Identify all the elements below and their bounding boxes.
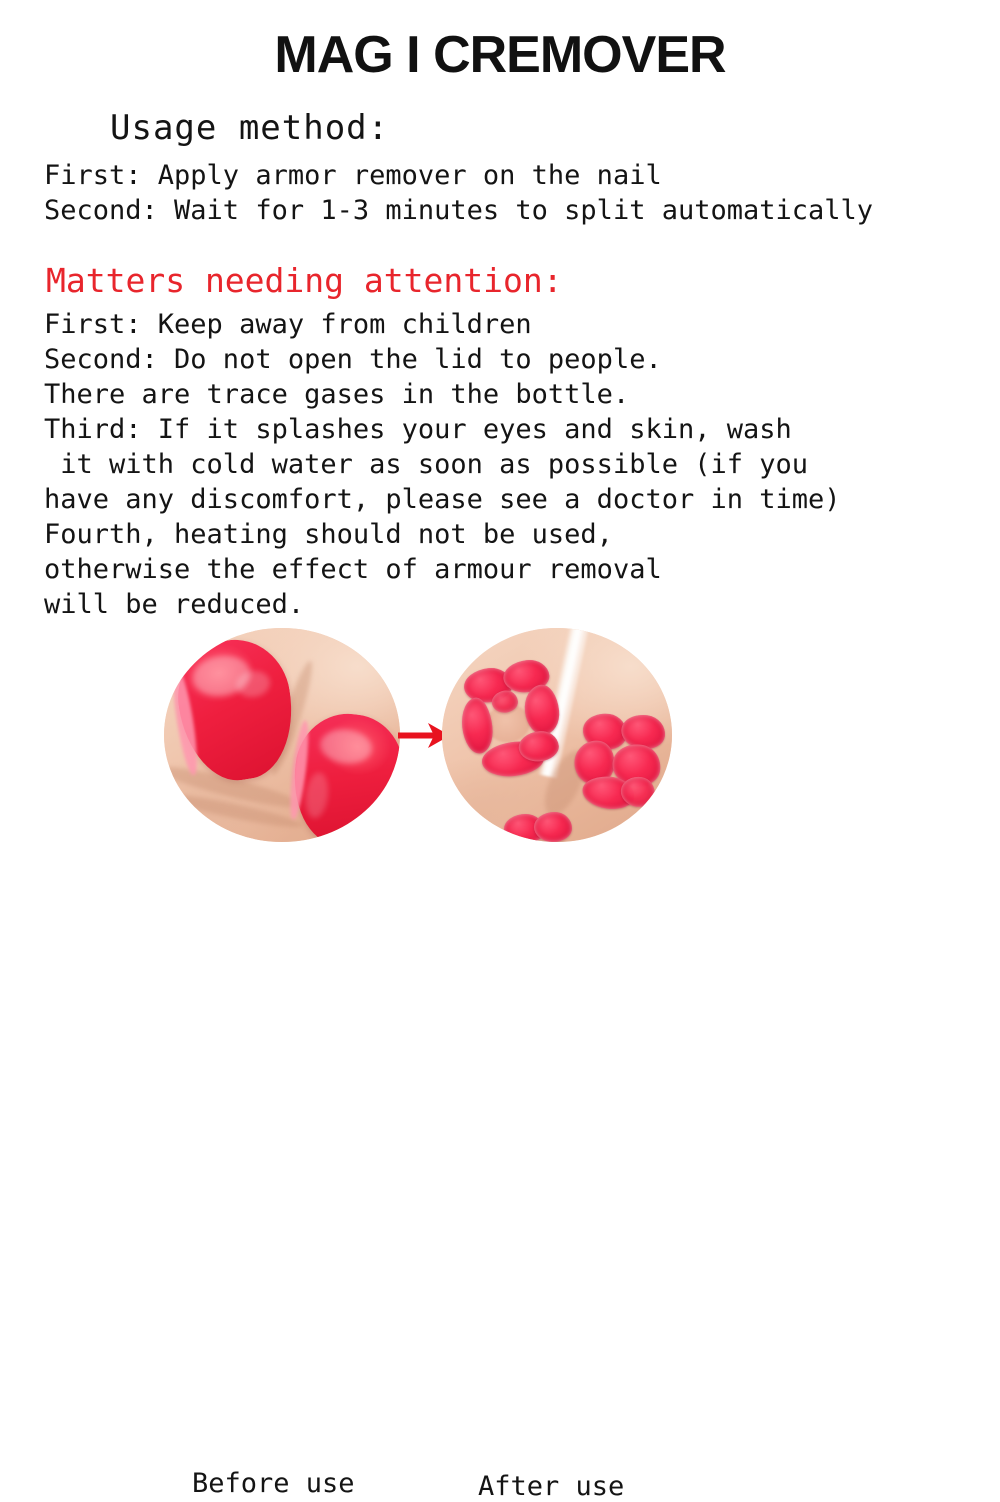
usage-method-body: First: Apply armor remover on the nail S… <box>44 158 974 228</box>
attention-line: it with cold water as soon as possible (… <box>44 447 974 482</box>
usage-line: Second: Wait for 1-3 minutes to split au… <box>44 193 974 228</box>
detached-polish-piece <box>504 812 574 842</box>
after-use-caption: After use <box>478 1471 624 1502</box>
attention-heading: Matters needing attention: <box>46 261 563 300</box>
attention-line: will be reduced. <box>44 587 974 622</box>
attention-line: have any discomfort, please see a doctor… <box>44 482 974 517</box>
usage-line: First: Apply armor remover on the nail <box>44 158 974 193</box>
attention-line: otherwise the effect of armour removal <box>44 552 974 587</box>
attention-body: First: Keep away from children Second: D… <box>44 307 974 622</box>
attention-line: Fourth, heating should not be used, <box>44 517 974 552</box>
nail-gloss <box>303 771 330 819</box>
page-title: MAG I CREMOVER <box>0 28 1000 83</box>
before-after-comparison: Before use After use <box>0 620 1000 890</box>
usage-method-heading: Usage method: <box>110 108 389 148</box>
attention-line: There are trace gases in the bottle. <box>44 377 974 412</box>
polish-flake <box>534 812 572 842</box>
attention-line: First: Keep away from children <box>44 307 974 342</box>
nail-gloss <box>318 726 374 766</box>
attention-line: Second: Do not open the lid to people. <box>44 342 974 377</box>
before-use-caption: Before use <box>192 1468 355 1499</box>
before-use-photo <box>164 628 400 842</box>
instruction-graphic: MAG I CREMOVER Usage method: First: Appl… <box>0 0 1000 890</box>
attention-line: Third: If it splashes your eyes and skin… <box>44 412 974 447</box>
after-use-photo <box>442 628 672 842</box>
